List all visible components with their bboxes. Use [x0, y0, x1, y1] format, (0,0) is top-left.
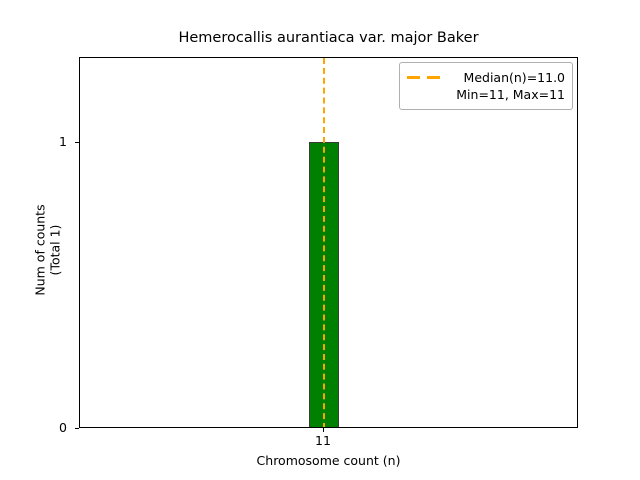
median-line	[323, 58, 325, 428]
y-axis-label: Num of counts (Total 1)	[33, 65, 63, 436]
legend-dash-segment-2	[427, 76, 440, 79]
legend: Median(n)=11.0 Min=11, Max=11	[399, 62, 573, 110]
legend-label-median: Median(n)=11.0	[451, 69, 565, 86]
ytick-mark-0	[75, 428, 79, 429]
figure-canvas: Hemerocallis aurantiaca var. major Baker…	[0, 0, 640, 480]
chart-title: Hemerocallis aurantiaca var. major Baker	[79, 30, 578, 47]
legend-text-block: Median(n)=11.0 Min=11, Max=11	[451, 69, 565, 103]
x-axis-label: Chromosome count (n)	[79, 454, 578, 468]
plot-area	[79, 57, 578, 428]
xtick-label-11: 11	[303, 434, 343, 448]
legend-label-minmax: Min=11, Max=11	[451, 86, 565, 103]
legend-dash-segment-1	[407, 76, 420, 79]
xtick-mark-11	[323, 428, 324, 432]
legend-dashed-line-sample	[407, 69, 443, 86]
